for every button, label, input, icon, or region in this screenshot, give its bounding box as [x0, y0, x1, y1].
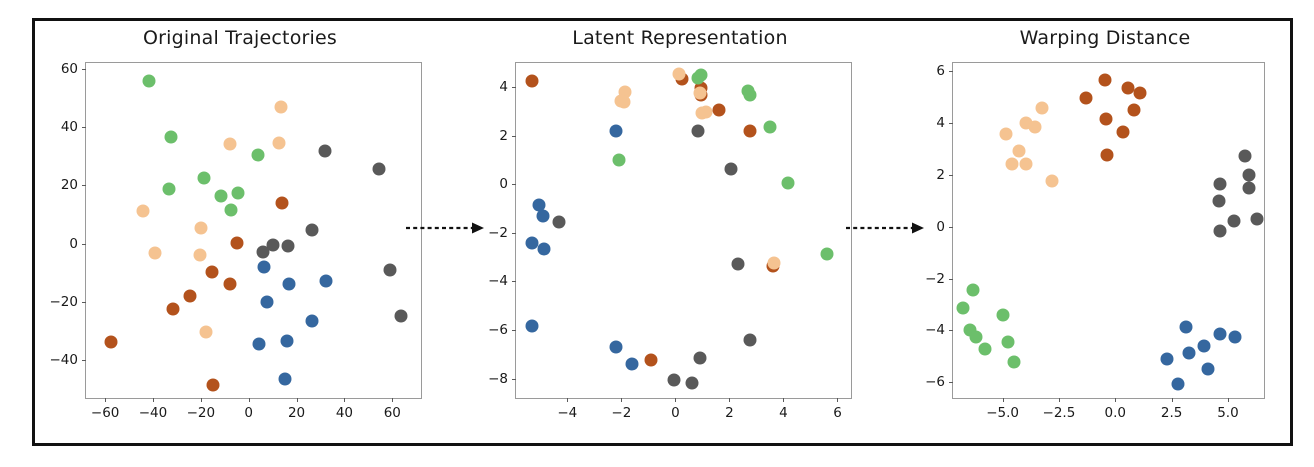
data-point	[1243, 168, 1256, 181]
y-tick	[512, 233, 516, 234]
data-point	[1007, 355, 1020, 368]
x-tick	[621, 398, 622, 402]
data-point	[731, 258, 744, 271]
data-point	[373, 162, 386, 175]
data-point	[205, 265, 218, 278]
data-point	[693, 87, 706, 100]
y-tick-label: 20	[38, 177, 78, 193]
data-point	[526, 75, 539, 88]
y-tick	[512, 184, 516, 185]
x-tick-label: −20	[187, 405, 216, 421]
data-point	[1046, 175, 1059, 188]
x-tick	[1003, 398, 1004, 402]
x-tick-label: 0	[244, 405, 253, 421]
x-tick	[1059, 398, 1060, 402]
data-point	[626, 358, 639, 371]
data-point	[194, 222, 207, 235]
x-tick	[1115, 398, 1116, 402]
data-point	[743, 124, 756, 137]
plot-area-original-trajectories: −60−40−200204060−40−200204060	[85, 62, 422, 399]
data-point	[1172, 377, 1185, 390]
x-tick	[153, 398, 154, 402]
data-point	[137, 204, 150, 217]
y-tick-label: 6	[905, 63, 945, 79]
data-point	[700, 105, 713, 118]
data-point	[1002, 336, 1015, 349]
data-point	[252, 148, 265, 161]
x-tick-label: 0	[671, 405, 680, 421]
data-point	[609, 341, 622, 354]
y-tick-label: −8	[468, 371, 508, 387]
data-point	[1005, 158, 1018, 171]
data-point	[820, 247, 833, 260]
y-tick-label: −20	[38, 294, 78, 310]
data-point	[645, 354, 658, 367]
data-point	[1128, 103, 1141, 116]
data-point	[282, 239, 295, 252]
y-tick	[512, 87, 516, 88]
panel-original-trajectories: Original Trajectories −60−40−200204060−4…	[40, 18, 440, 446]
data-point	[1100, 112, 1113, 125]
y-tick-label: −4	[468, 273, 508, 289]
data-point	[164, 130, 177, 143]
data-point	[768, 257, 781, 270]
data-point	[167, 302, 180, 315]
data-point	[668, 373, 681, 386]
data-point	[712, 104, 725, 117]
x-tick-label: 40	[336, 405, 353, 421]
plot-area-warping-distance: −5.0−2.50.02.55.0−6−4−20246	[952, 62, 1265, 399]
data-point	[1212, 194, 1225, 207]
y-tick	[949, 330, 953, 331]
data-point	[1121, 81, 1134, 94]
x-tick	[344, 398, 345, 402]
data-point	[967, 284, 980, 297]
data-point	[743, 333, 756, 346]
x-tick	[837, 398, 838, 402]
data-point	[1013, 145, 1026, 158]
x-tick-label: −40	[139, 405, 168, 421]
data-point	[149, 247, 162, 260]
y-tick-label: −6	[468, 322, 508, 338]
y-tick-label: 4	[468, 79, 508, 95]
plot-area-latent-representation: −4−20246−8−6−4−2024	[515, 62, 852, 399]
data-point	[1201, 363, 1214, 376]
data-point	[223, 137, 236, 150]
data-point	[1214, 224, 1227, 237]
panel-warping-distance: Warping Distance −5.0−2.50.02.55.0−6−4−2…	[920, 18, 1290, 446]
figure-root: Original Trajectories −60−40−200204060−4…	[0, 0, 1314, 467]
data-point	[957, 302, 970, 315]
data-point	[526, 236, 539, 249]
y-tick-label: 2	[468, 128, 508, 144]
y-tick-label: −2	[468, 225, 508, 241]
data-point	[199, 325, 212, 338]
data-point	[978, 342, 991, 355]
x-tick-label: −4	[557, 405, 577, 421]
data-point	[223, 277, 236, 290]
data-point	[724, 162, 737, 175]
x-tick-label: 4	[779, 405, 788, 421]
x-tick-label: −5.0	[986, 405, 1019, 421]
data-point	[383, 264, 396, 277]
y-tick	[82, 360, 86, 361]
y-tick	[949, 71, 953, 72]
data-point	[1036, 102, 1049, 115]
data-point	[283, 277, 296, 290]
data-point	[1161, 353, 1174, 366]
x-tick	[567, 398, 568, 402]
data-point	[281, 335, 294, 348]
data-point	[257, 245, 270, 258]
x-tick-label: 2	[725, 405, 734, 421]
data-point	[206, 378, 219, 391]
x-tick-label: −60	[91, 405, 120, 421]
y-tick	[82, 244, 86, 245]
y-tick-label: −40	[38, 352, 78, 368]
data-point	[999, 128, 1012, 141]
data-point	[230, 236, 243, 249]
data-point	[1227, 215, 1240, 228]
data-point	[526, 320, 539, 333]
data-point	[538, 242, 551, 255]
x-tick	[297, 398, 298, 402]
data-point	[1020, 158, 1033, 171]
data-point	[1198, 340, 1211, 353]
data-point	[609, 124, 622, 137]
data-point	[1029, 120, 1042, 133]
y-tick	[949, 175, 953, 176]
y-tick-label: 2	[905, 167, 945, 183]
x-tick	[392, 398, 393, 402]
y-tick	[512, 330, 516, 331]
x-tick-label: −2.5	[1043, 405, 1076, 421]
data-point	[553, 216, 566, 229]
data-point	[685, 377, 698, 390]
data-point	[1180, 320, 1193, 333]
data-point	[1079, 92, 1092, 105]
data-point	[1101, 149, 1114, 162]
y-tick	[512, 136, 516, 137]
y-tick-label: 0	[468, 176, 508, 192]
y-tick-label: 40	[38, 119, 78, 135]
data-point	[306, 314, 319, 327]
y-tick	[512, 379, 516, 380]
y-tick	[512, 281, 516, 282]
x-tick	[1172, 398, 1173, 402]
data-point	[693, 351, 706, 364]
x-tick-label: 20	[288, 405, 305, 421]
data-point	[1228, 330, 1241, 343]
data-point	[1251, 212, 1264, 225]
data-point	[258, 261, 271, 274]
data-point	[320, 275, 333, 288]
data-point	[253, 338, 266, 351]
data-point	[272, 137, 285, 150]
data-point	[1117, 125, 1130, 138]
data-point	[224, 204, 237, 217]
data-point	[1099, 73, 1112, 86]
y-tick	[82, 127, 86, 128]
y-tick	[82, 185, 86, 186]
y-tick	[82, 302, 86, 303]
data-point	[162, 182, 175, 195]
panel-title-latent-representation: Latent Representation	[480, 27, 880, 49]
x-tick-label: 0.0	[1105, 405, 1126, 421]
x-tick	[201, 398, 202, 402]
data-point	[1214, 177, 1227, 190]
data-point	[260, 295, 273, 308]
data-point	[306, 223, 319, 236]
y-tick-label: −4	[905, 322, 945, 338]
data-point	[143, 75, 156, 88]
y-tick-label: 0	[38, 236, 78, 252]
y-tick-label: −6	[905, 374, 945, 390]
x-tick	[675, 398, 676, 402]
y-tick	[949, 227, 953, 228]
y-tick	[949, 123, 953, 124]
y-tick-label: 60	[38, 61, 78, 77]
y-tick-label: 4	[905, 115, 945, 131]
data-point	[1214, 328, 1227, 341]
x-tick	[729, 398, 730, 402]
y-tick	[82, 69, 86, 70]
panel-latent-representation: Latent Representation −4−20246−8−6−4−202…	[480, 18, 880, 446]
data-point	[969, 330, 982, 343]
data-point	[996, 308, 1009, 321]
data-point	[692, 71, 705, 84]
data-point	[781, 177, 794, 190]
x-tick	[105, 398, 106, 402]
data-point	[1238, 150, 1251, 163]
data-point	[215, 190, 228, 203]
y-tick-label: −2	[905, 271, 945, 287]
data-point	[537, 209, 550, 222]
x-tick	[783, 398, 784, 402]
data-point	[1243, 181, 1256, 194]
x-tick-label: −2	[611, 405, 631, 421]
data-point	[612, 154, 625, 167]
data-point	[231, 186, 244, 199]
x-tick-label: 2.5	[1161, 405, 1182, 421]
x-tick-label: 5.0	[1217, 405, 1238, 421]
data-point	[618, 95, 631, 108]
data-point	[394, 309, 407, 322]
y-tick	[949, 279, 953, 280]
data-point	[1182, 346, 1195, 359]
data-point	[743, 88, 756, 101]
x-tick-label: 60	[384, 405, 401, 421]
x-tick	[1228, 398, 1229, 402]
data-point	[763, 121, 776, 134]
y-tick-label: 0	[905, 219, 945, 235]
data-point	[276, 196, 289, 209]
data-point	[1134, 86, 1147, 99]
x-tick	[249, 398, 250, 402]
panel-title-original-trajectories: Original Trajectories	[40, 27, 440, 49]
panel-title-warping-distance: Warping Distance	[920, 27, 1290, 49]
y-tick	[949, 382, 953, 383]
data-point	[692, 124, 705, 137]
data-point	[184, 290, 197, 303]
data-point	[278, 372, 291, 385]
data-point	[275, 100, 288, 113]
x-tick-label: 6	[833, 405, 842, 421]
data-point	[319, 144, 332, 157]
data-point	[673, 67, 686, 80]
data-point	[198, 171, 211, 184]
data-point	[193, 249, 206, 262]
data-point	[105, 336, 118, 349]
